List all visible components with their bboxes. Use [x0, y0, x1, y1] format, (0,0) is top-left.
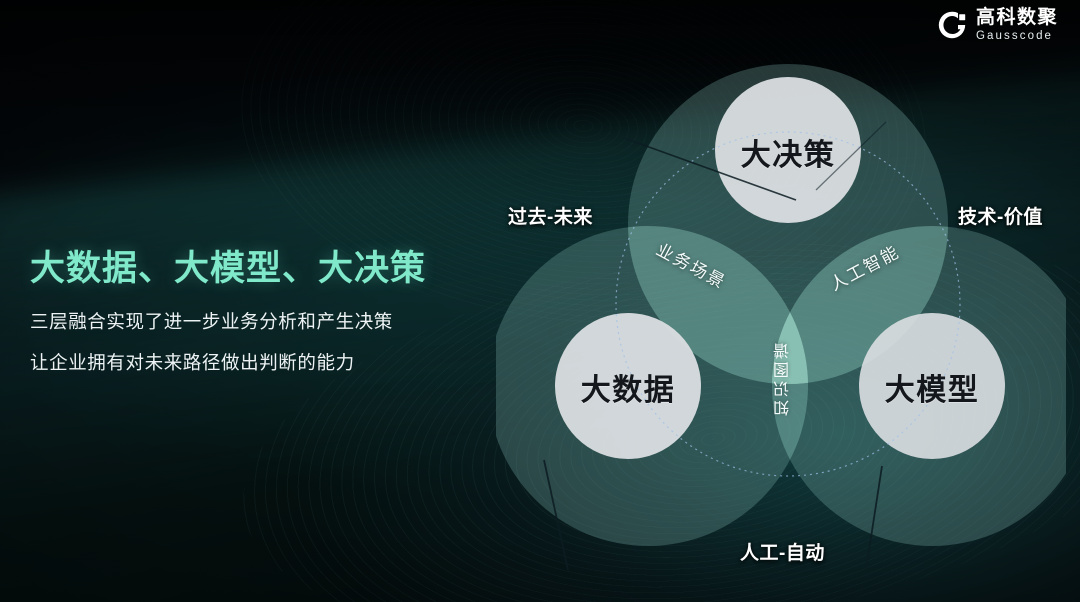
headline-block: 大数据、大模型、大决策 三层融合实现了进一步业务分析和产生决策 让企业拥有对未来…	[30, 250, 460, 378]
venn-diagram: 过去-未来 技术-价值 人工-自动 大决策 大数据 大模型 业务场景 人工智能 …	[496, 14, 1066, 574]
venn-diagram-graphic	[496, 14, 1066, 574]
axis-label-tech-value: 技术-价值	[958, 202, 1043, 229]
axis-label-manual-automatic: 人工-自动	[740, 538, 825, 565]
venn-overlap-label-knowledge-graph: 知识图谱	[772, 340, 796, 416]
subtitle-line-2: 让企业拥有对未来路径做出判断的能力	[30, 349, 460, 378]
axis-label-past-future: 过去-未来	[508, 202, 593, 229]
venn-core-label-bigdata: 大数据	[581, 365, 676, 409]
venn-core-label-decision: 大决策	[741, 130, 836, 174]
venn-core-label-bigmodel: 大模型	[885, 365, 980, 409]
subtitle-line-1: 三层融合实现了进一步业务分析和产生决策	[30, 308, 460, 337]
page-title: 大数据、大模型、大决策	[30, 250, 460, 289]
slide-root: 高科数聚 Gausscode 大数据、大模型、大决策 三层融合实现了进一步业务分…	[0, 0, 1080, 602]
